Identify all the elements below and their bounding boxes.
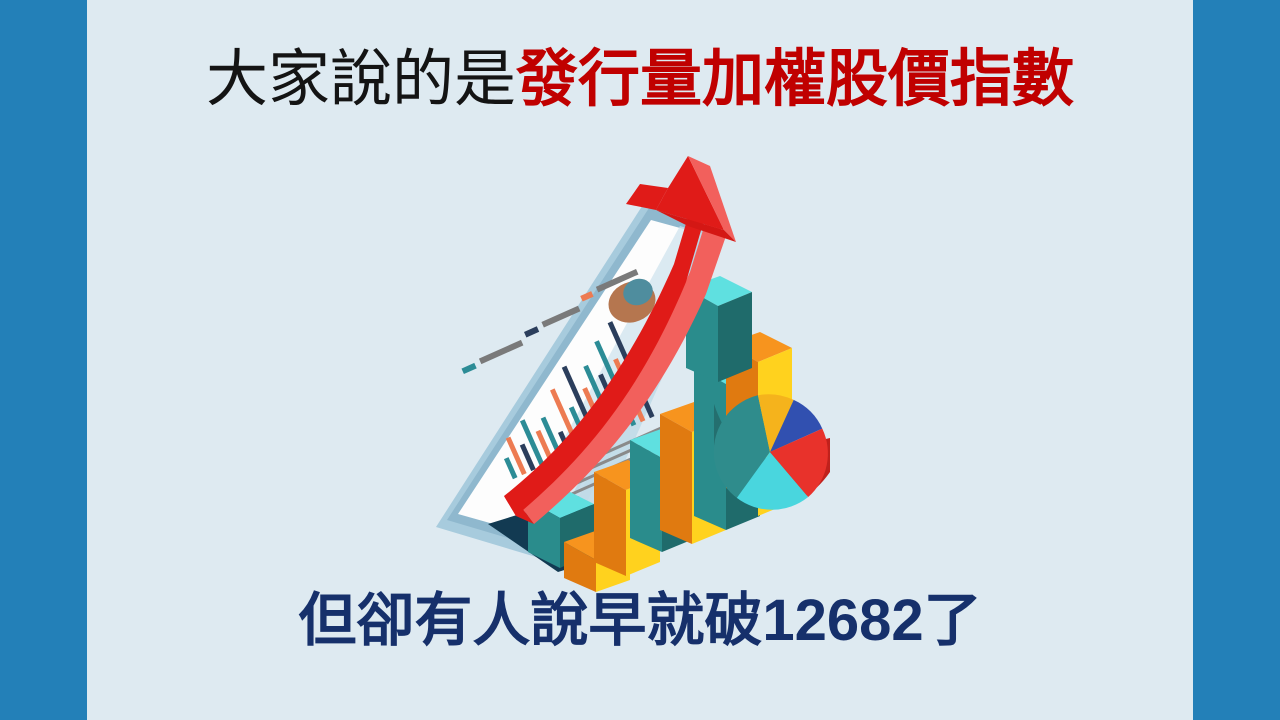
title-highlight-text: 發行量加權股價指數 xyxy=(516,45,1074,114)
title-plain-text: 大家說的是 xyxy=(206,45,516,114)
slide-title: 大家說的是發行量加權股價指數 xyxy=(87,46,1193,114)
left-accent-bar xyxy=(0,0,87,720)
business-growth-illustration xyxy=(418,152,858,592)
slide-caption: 但卻有人說早就破12682了 xyxy=(87,588,1193,655)
slide-root: 大家說的是發行量加權股價指數 xyxy=(0,0,1280,720)
right-accent-bar xyxy=(1193,0,1280,720)
